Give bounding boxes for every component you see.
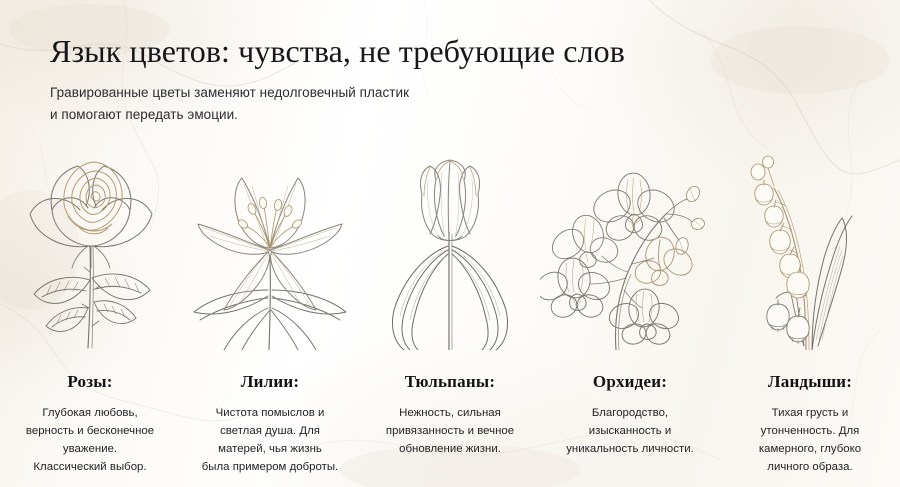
caption-line: личного образа. xyxy=(726,458,894,476)
caption-line: Глубокая любовь, xyxy=(6,404,174,422)
caption-heading: Розы: xyxy=(67,372,112,392)
caption-line: Нежность, сильная xyxy=(366,404,534,422)
flower-language-poster: Язык цветов: чувства, не требующие слов … xyxy=(0,0,900,487)
orchid-flower-icon xyxy=(540,150,720,350)
flower-columns: Розы: Глубокая любовь, верность и бескон… xyxy=(0,150,900,476)
caption-line: верность и бесконечное xyxy=(6,422,174,440)
caption-heading: Орхидеи: xyxy=(593,372,667,392)
tulip-flower-icon xyxy=(360,150,540,350)
lily-illustration xyxy=(180,150,360,350)
caption-heading: Лилии: xyxy=(241,372,299,392)
flower-column-orchid: Орхидеи: Благородство, изысканность и ун… xyxy=(540,150,720,476)
caption-line: камерного, глубоко xyxy=(726,440,894,458)
caption-line: изысканность и xyxy=(546,422,714,440)
caption-line: привязанность и вечное xyxy=(366,422,534,440)
rose-flower-icon xyxy=(0,150,180,350)
caption-heading: Тюльпаны: xyxy=(405,372,495,392)
page-title: Язык цветов: чувства, не требующие слов xyxy=(50,34,850,70)
caption-line: была примером доброты. xyxy=(186,458,354,476)
rose-illustration xyxy=(0,150,180,350)
flower-column-lily: Лилии: Чистота помыслов и светлая душа. … xyxy=(180,150,360,476)
subtitle-line-1: Гравированные цветы заменяют недолговечн… xyxy=(50,82,850,104)
header: Язык цветов: чувства, не требующие слов … xyxy=(50,34,850,126)
caption-line: уважение. xyxy=(6,440,174,458)
flower-column-lily-of-the-valley: Ландыши: Тихая грусть и утонченность. Дл… xyxy=(720,150,900,476)
caption-heading: Ландыши: xyxy=(768,372,852,392)
caption-line: утонченность. Для xyxy=(726,422,894,440)
caption-line: уникальность личности. xyxy=(546,440,714,458)
flower-column-rose: Розы: Глубокая любовь, верность и бескон… xyxy=(0,150,180,476)
flower-column-tulip: Тюльпаны: Нежность, сильная привязанност… xyxy=(360,150,540,476)
lily-flower-icon xyxy=(180,150,360,350)
caption-body: Нежность, сильная привязанность и вечное… xyxy=(366,404,534,458)
caption-body: Благородство, изысканность и уникальност… xyxy=(546,404,714,458)
lily-of-the-valley-illustration xyxy=(720,150,900,350)
caption-line: Классический выбор. xyxy=(6,458,174,476)
caption-body: Глубокая любовь, верность и бесконечное … xyxy=(6,404,174,476)
orchid-illustration xyxy=(540,150,720,350)
caption-line: обновление жизни. xyxy=(366,440,534,458)
caption-line: Благородство, xyxy=(546,404,714,422)
caption-body: Тихая грусть и утонченность. Для камерно… xyxy=(726,404,894,476)
caption-line: светлая душа. Для xyxy=(186,422,354,440)
page-subtitle: Гравированные цветы заменяют недолговечн… xyxy=(50,82,850,126)
caption-line: Тихая грусть и xyxy=(726,404,894,422)
caption-line: Чистота помыслов и xyxy=(186,404,354,422)
tulip-illustration xyxy=(360,150,540,350)
caption-line: матерей, чья жизнь xyxy=(186,440,354,458)
caption-body: Чистота помыслов и светлая душа. Для мат… xyxy=(186,404,354,476)
subtitle-line-2: и помогают передать эмоции. xyxy=(50,104,850,126)
lily-of-the-valley-icon xyxy=(720,150,900,350)
